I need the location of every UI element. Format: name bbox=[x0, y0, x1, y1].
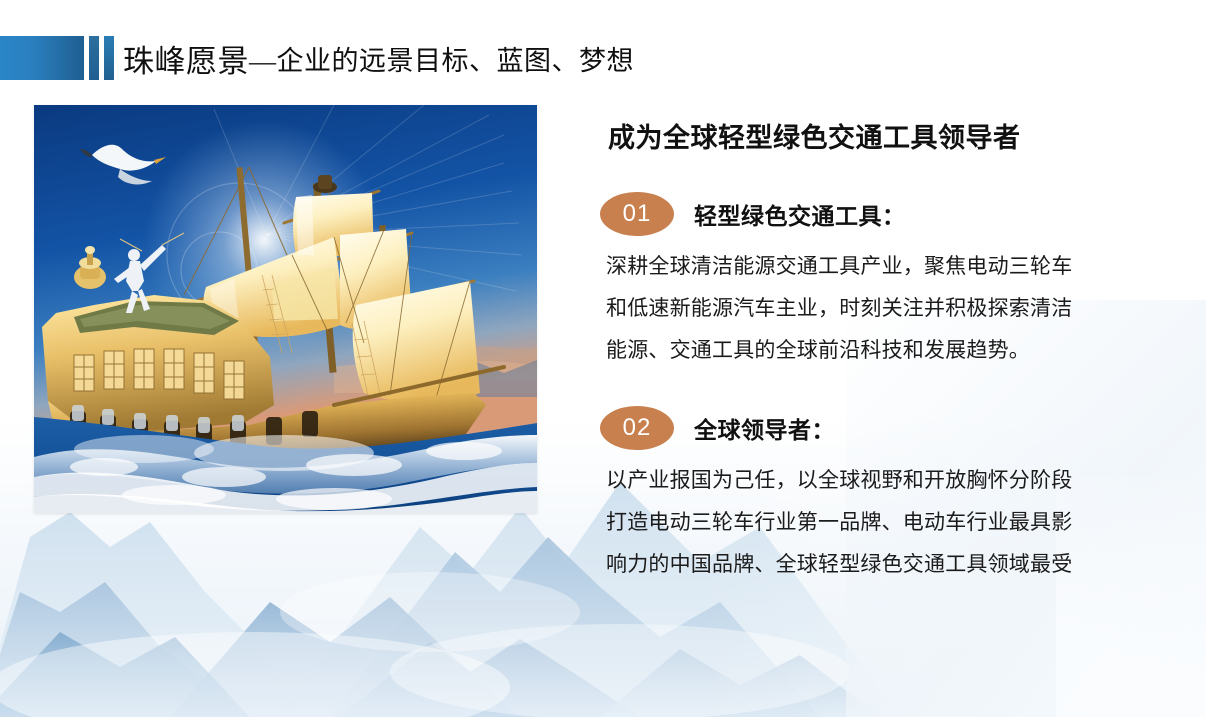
badge-number-01: 01 bbox=[600, 192, 674, 236]
vision-block-01-line-3: 能源、交通工具的全球前沿科技和发展趋势。 bbox=[606, 330, 1186, 372]
vision-block-01-line-1: 深耕全球清洁能源交通工具产业，聚焦电动三轮车 bbox=[606, 246, 1186, 288]
accent-bar-thin-2 bbox=[104, 36, 114, 80]
content-column: 成为全球轻型绿色交通工具领导者 01 轻型绿色交通工具： 深耕全球清洁能源交通工… bbox=[600, 122, 1190, 586]
vision-block-02-line-3: 响力的中国品牌、全球轻型绿色交通工具领域最受 bbox=[606, 544, 1186, 586]
vision-block-02-line-2: 打造电动三轮车行业第一品牌、电动车行业最具影 bbox=[606, 502, 1186, 544]
vision-block-01-body: 深耕全球清洁能源交通工具产业，聚焦电动三轮车 和低速新能源汽车主业，时刻关注并积… bbox=[606, 246, 1186, 372]
vision-block-01-line-2: 和低速新能源汽车主业，时刻关注并积极探索清洁 bbox=[606, 288, 1186, 330]
slide-canvas: 珠峰愿景—企业的远景目标、蓝图、梦想 bbox=[0, 0, 1206, 717]
main-headline: 成为全球轻型绿色交通工具领导者 bbox=[608, 122, 1190, 156]
vision-block-02-body: 以产业报国为己任，以全球视野和开放胸怀分阶段 打造电动三轮车行业第一品牌、电动车… bbox=[606, 460, 1186, 586]
page-title-subtitle: —企业的远景目标、蓝图、梦想 bbox=[249, 39, 634, 78]
vision-block-02-title: 全球领导者： bbox=[694, 411, 835, 445]
vision-block-01-title: 轻型绿色交通工具： bbox=[694, 197, 906, 231]
sailing-ship-photo bbox=[34, 105, 537, 513]
vision-block-02-head: 02 全球领导者： bbox=[600, 406, 1190, 450]
slide-header: 珠峰愿景—企业的远景目标、蓝图、梦想 bbox=[0, 0, 1206, 104]
vision-block-02: 02 全球领导者： 以产业报国为己任，以全球视野和开放胸怀分阶段 打造电动三轮车… bbox=[600, 406, 1190, 586]
vision-block-02-line-1: 以产业报国为己任，以全球视野和开放胸怀分阶段 bbox=[606, 460, 1186, 502]
vision-block-01: 01 轻型绿色交通工具： 深耕全球清洁能源交通工具产业，聚焦电动三轮车 和低速新… bbox=[600, 192, 1190, 372]
page-title-main: 珠峰愿景 bbox=[123, 36, 249, 81]
accent-bar-thin-1 bbox=[89, 36, 99, 80]
page-title: 珠峰愿景—企业的远景目标、蓝图、梦想 bbox=[123, 36, 634, 80]
accent-bar-main bbox=[0, 36, 84, 80]
vision-block-01-head: 01 轻型绿色交通工具： bbox=[600, 192, 1190, 236]
title-accent-bars bbox=[0, 36, 114, 80]
badge-number-02: 02 bbox=[600, 406, 674, 450]
